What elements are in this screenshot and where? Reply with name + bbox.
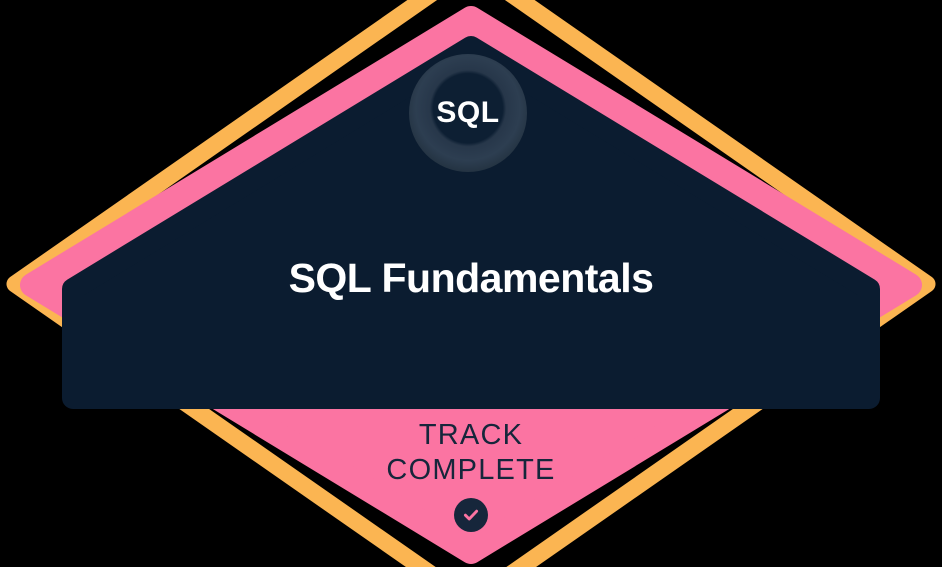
track-title: SQL Fundamentals [0, 255, 942, 302]
track-status-block: TRACK COMPLETE [0, 418, 942, 532]
check-circle-icon [454, 498, 488, 532]
sql-emblem-label: SQL [436, 98, 499, 128]
status-check-wrapper [0, 498, 942, 532]
status-label-line1: TRACK [0, 418, 942, 453]
check-mark-glyph [461, 505, 481, 525]
status-label-line2: COMPLETE [0, 453, 942, 488]
sql-emblem-icon: SQL [409, 54, 527, 172]
track-completion-badge: SQL SQL Fundamentals TRACK COMPLETE [0, 0, 942, 567]
